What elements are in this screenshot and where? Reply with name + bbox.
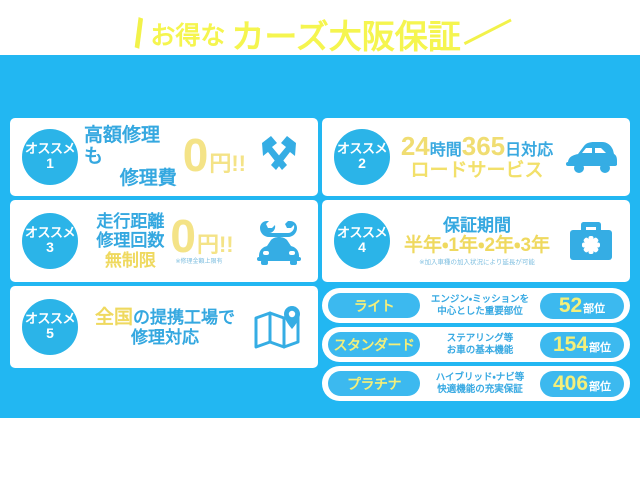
badge-number: 4 <box>358 240 366 255</box>
plan-desc-line1: ハイブリッド・ナビ等 <box>422 372 538 384</box>
page-title: \ お得な カーズ大阪保証 ／ <box>0 8 640 60</box>
plan-row-platinum[interactable]: プラチナ ハイブリッド・ナビ等 快適機能の充実保証 406 部位 <box>322 366 630 401</box>
card1-line1: 高額修理も <box>84 125 177 168</box>
feature-card-2-body: 24 時間 365 日対応 ロードサービス <box>396 133 558 181</box>
feature-card-3-text: 走行距離 修理回数 無制限 <box>96 212 164 269</box>
plan-name-platinum: プラチナ <box>328 371 420 396</box>
badge-label: オススメ <box>25 312 75 326</box>
map-pin-icon <box>250 298 308 356</box>
feature-card-3-body: 走行距離 修理回数 無制限 0 円!! ※修理金額上限有 <box>84 212 246 269</box>
badge-number: 3 <box>46 240 54 255</box>
card3-amount-number: 0 <box>170 216 196 257</box>
feature-card-4-body: 保証期間 半年・1年・2年・3年 ※加入車種の加入状況により延長が可能 <box>396 216 558 266</box>
badge-osusume-3: オススメ 3 <box>22 213 78 269</box>
plan-count-number: 52 <box>559 293 582 319</box>
plan-list: ライト エンジン・ミッションを 中心とした重要部位 52 部位 スタンダード ス… <box>322 288 630 401</box>
plan-name-standard: スタンダード <box>328 332 420 357</box>
plan-desc-line2: 快適機能の充実保証 <box>422 384 538 396</box>
card2-days-unit: 日対応 <box>505 142 553 160</box>
plan-desc-line1: エンジン・ミッションを <box>422 294 538 306</box>
car-wrench-icon <box>250 212 308 270</box>
badge-number: 1 <box>46 156 54 171</box>
feature-card-5-text: 全国 の提携工場で 修理対応 <box>95 307 235 347</box>
card2-hours-unit: 時間 <box>430 142 462 160</box>
plan-desc-line2: お車の基本機能 <box>422 345 538 357</box>
card5-line1-rest: の提携工場で <box>133 308 235 327</box>
card2-line2: ロードサービス <box>410 160 543 181</box>
crossed-hammers-icon <box>250 128 308 186</box>
plan-desc-light: エンジン・ミッションを 中心とした重要部位 <box>420 294 540 318</box>
card4-note: ※加入車種の加入状況により延長が可能 <box>419 259 535 266</box>
badge-osusume-2: オススメ 2 <box>334 129 390 185</box>
plan-count-number: 154 <box>553 332 588 358</box>
feature-card-1-body: 高額修理も 修理費 0 円!! <box>84 125 246 189</box>
feature-card-1: オススメ 1 高額修理も 修理費 0 円!! <box>10 118 318 196</box>
plan-desc-line1: ステアリング等 <box>422 333 538 345</box>
badge-label: オススメ <box>337 226 387 240</box>
card1-amount-number: 0 <box>183 135 209 176</box>
plan-row-light[interactable]: ライト エンジン・ミッションを 中心とした重要部位 52 部位 <box>322 288 630 323</box>
feature-card-1-text: 高額修理も 修理費 <box>84 125 177 189</box>
card3-note: ※修理金額上限有 <box>175 259 222 266</box>
title-slash-right-icon: ／ <box>462 9 512 59</box>
badge-number: 2 <box>358 156 366 171</box>
plan-desc-line2: 中心とした重要部位 <box>422 306 538 318</box>
plan-count-unit: 部位 <box>589 335 611 361</box>
card3-amount: 0 円!! <box>170 216 233 258</box>
card3-line2: 修理回数 <box>96 231 164 250</box>
card1-line2: 修理費 <box>120 168 177 189</box>
feature-card-2-text: 24 時間 365 日対応 ロードサービス <box>401 133 553 181</box>
card5-line2: 修理対応 <box>131 328 199 347</box>
feature-card-4-text: 保証期間 半年・1年・2年・3年 ※加入車種の加入状況により延長が可能 <box>404 216 550 266</box>
card1-amount: 0 円!! <box>183 135 246 178</box>
advertisement-stage: \ お得な カーズ大阪保証 ／ オススメ 1 高額修理も 修理費 0 円!! <box>0 0 640 480</box>
badge-number: 5 <box>46 326 54 341</box>
badge-label: オススメ <box>25 226 75 240</box>
feature-card-4: オススメ 4 保証期間 半年・1年・2年・3年 ※加入車種の加入状況により延長が… <box>322 200 630 282</box>
plan-count-standard: 154 部位 <box>540 332 624 358</box>
badge-osusume-1: オススメ 1 <box>22 129 78 185</box>
plan-desc-platinum: ハイブリッド・ナビ等 快適機能の充実保証 <box>420 372 540 396</box>
plan-count-platinum: 406 部位 <box>540 371 624 397</box>
plan-row-standard[interactable]: スタンダード ステアリング等 お車の基本機能 154 部位 <box>322 327 630 362</box>
card4-line1: 保証期間 <box>443 216 511 235</box>
card3-line1: 走行距離 <box>96 212 164 231</box>
card2-days-number: 365 <box>462 133 505 159</box>
card3-line3: 無制限 <box>105 251 156 270</box>
plan-count-number: 406 <box>553 371 588 397</box>
feature-card-2: オススメ 2 24 時間 365 日対応 ロードサービス <box>322 118 630 196</box>
feature-card-5: オススメ 5 全国 の提携工場で 修理対応 <box>10 286 318 368</box>
plan-count-unit: 部位 <box>589 374 611 400</box>
card3-amount-block: 0 円!! ※修理金額上限有 <box>164 216 233 266</box>
plan-count-light: 52 部位 <box>540 293 624 319</box>
card3-amount-unit: 円!! <box>197 233 234 258</box>
plan-name-light: ライト <box>328 293 420 318</box>
card2-line1: 24 時間 365 日対応 <box>401 133 553 160</box>
title-main: カーズ大阪保証 <box>231 10 460 58</box>
toolbox-icon <box>562 212 620 270</box>
title-prefix: お得な <box>150 16 225 52</box>
badge-osusume-4: オススメ 4 <box>334 213 390 269</box>
badge-label: オススメ <box>337 142 387 156</box>
card4-line2: 半年・1年・2年・3年 <box>404 235 550 256</box>
car-side-icon <box>562 128 620 186</box>
card5-line1: 全国 の提携工場で <box>95 307 235 328</box>
plan-desc-standard: ステアリング等 お車の基本機能 <box>420 333 540 357</box>
card2-hours-number: 24 <box>401 133 430 159</box>
plan-count-unit: 部位 <box>583 296 605 322</box>
card1-amount-unit: 円!! <box>209 146 246 178</box>
title-slash-left-icon: \ <box>127 13 150 54</box>
badge-osusume-5: オススメ 5 <box>22 299 78 355</box>
feature-card-3: オススメ 3 走行距離 修理回数 無制限 0 円!! ※修理金額上限有 <box>10 200 318 282</box>
card5-highlight: 全国 <box>95 307 133 328</box>
badge-label: オススメ <box>25 142 75 156</box>
feature-card-5-body: 全国 の提携工場で 修理対応 <box>84 307 246 347</box>
